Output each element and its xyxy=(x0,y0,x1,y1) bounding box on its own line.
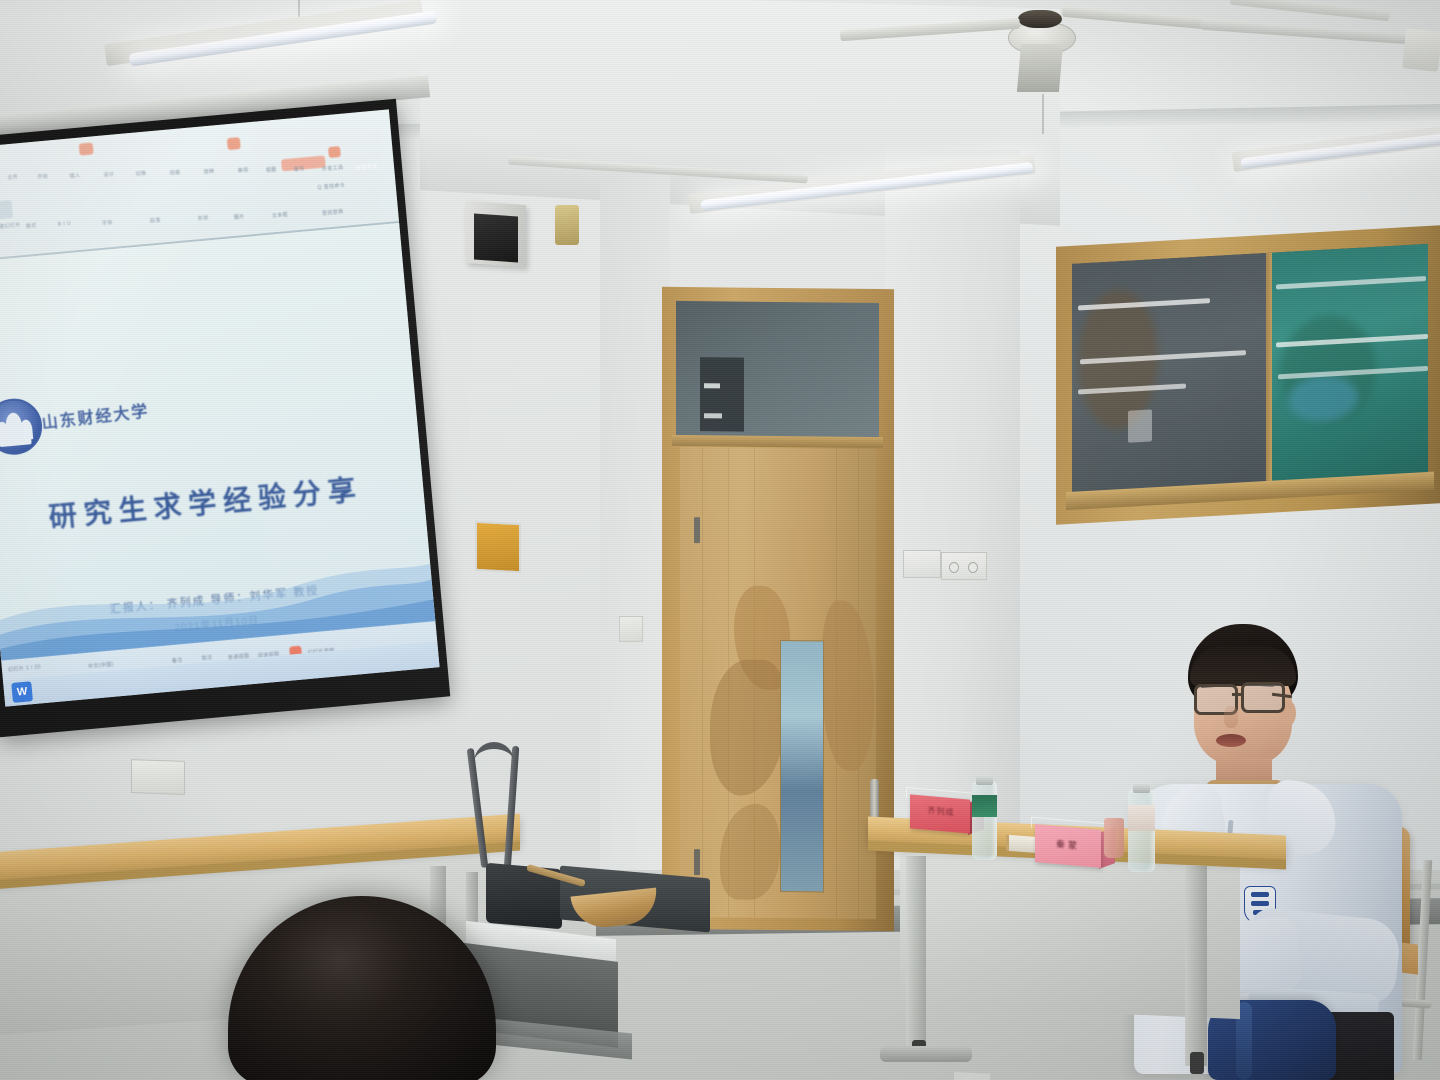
water-bottle-2 xyxy=(1128,790,1155,872)
transom-reflection-highlight-1 xyxy=(704,383,720,388)
slide-title: 研究生求学经验分享 xyxy=(0,462,425,541)
right-desk-leg-right xyxy=(1185,866,1207,1066)
status-language: 中文(中国) xyxy=(88,661,114,670)
wall-speaker xyxy=(466,201,526,267)
wall-outlet[interactable] xyxy=(619,616,643,642)
ribbon-tab-chip-3 xyxy=(328,146,341,158)
ribbon-bold-label: B I U xyxy=(58,221,72,228)
water-bottle-1-label xyxy=(972,795,997,817)
ribbon-tab-chip-2 xyxy=(227,137,241,150)
right-desk-base-foot xyxy=(880,1046,972,1062)
ribbon-tab-view: 视图 xyxy=(266,166,277,174)
ceiling-fan-cap xyxy=(1018,10,1062,28)
door-transom-glass xyxy=(676,301,879,439)
ribbon-tab-animation: 动画 xyxy=(169,169,180,177)
man-hair-fringe xyxy=(1190,646,1296,686)
door-grain-1 xyxy=(702,447,703,917)
ribbon-tab-transition: 切换 xyxy=(135,170,146,178)
speaker-grille xyxy=(474,213,518,262)
emblem-base xyxy=(0,437,32,447)
wall-junction-box xyxy=(131,759,185,795)
ribbon-newslide-label: 新建幻灯片 xyxy=(0,221,21,230)
water-bottle-2-label xyxy=(1128,805,1155,831)
transom-reflection-dark xyxy=(700,357,744,431)
right-desk-leg-left xyxy=(906,856,926,1056)
slide-canvas: 山东财经大学 研究生求学经验分享 汇报人： 齐列成 导师：刘华军 教授 2021… xyxy=(0,223,435,661)
projected-slide: WPS 文件 开始 插入 设计 切换 动画 放映 审阅 视图 章节 开发工具 会… xyxy=(0,109,440,706)
status-notes: 备注 xyxy=(172,656,183,664)
door-hinge-bottom xyxy=(694,849,700,875)
door-jamb-wall xyxy=(600,175,670,935)
man-nose xyxy=(1224,706,1238,728)
door-hinge-top xyxy=(694,517,700,543)
light-switch[interactable] xyxy=(903,550,941,578)
window-glazing xyxy=(1072,244,1428,496)
socket-hole-left xyxy=(949,562,959,573)
pane-right-streak-1 xyxy=(1276,276,1426,289)
veneer-peel-patch-2 xyxy=(710,659,786,796)
ribbon-tab-section: 章节 xyxy=(294,165,305,173)
ribbon-picture-label: 图片 xyxy=(234,213,245,221)
light-drop-rod-2 xyxy=(1042,94,1044,134)
ribbon-search-box[interactable]: Q 查找命令 xyxy=(317,182,345,191)
ribbon-tab-slideshow: 放映 xyxy=(203,168,214,176)
ribbon-paragraph-label: 段落 xyxy=(150,217,161,225)
wooden-door[interactable] xyxy=(662,287,894,931)
ribbon-textbox-label: 文本框 xyxy=(272,211,289,219)
window-pane-right xyxy=(1272,244,1428,485)
ribbon-font-label: 字体 xyxy=(102,219,113,227)
ribbon-tab-review: 审阅 xyxy=(237,166,248,174)
ribbon-tab-file: 文件 xyxy=(7,173,18,181)
water-bottle-1-cap xyxy=(976,776,993,785)
amber-panel-label xyxy=(954,1072,990,1080)
ribbon-tab-home: 开始 xyxy=(37,173,48,181)
glasses-bridge xyxy=(1232,693,1244,696)
paper-cup xyxy=(1104,818,1124,858)
water-bottle-2-cap xyxy=(1133,784,1150,793)
veneer-peel-patch-4 xyxy=(720,803,780,900)
classroom-photo: WPS 文件 开始 插入 设计 切换 动画 放映 审阅 视图 章节 开发工具 会… xyxy=(0,0,1440,1080)
wps-taskbar-icon[interactable]: W xyxy=(11,681,33,703)
power-socket[interactable] xyxy=(941,552,987,580)
amber-wall-panel xyxy=(475,521,521,573)
socket-hole-right xyxy=(968,562,978,573)
brass-wall-fixture xyxy=(555,205,579,245)
door-leaf[interactable] xyxy=(680,447,876,919)
ribbon-tab-developer: 开发工具 xyxy=(322,164,344,173)
university-name: 山东财经大学 xyxy=(40,397,150,433)
ribbon-shape-label: 形状 xyxy=(198,214,209,222)
ceiling-fan-motor xyxy=(1017,44,1063,92)
projector-screen: WPS 文件 开始 插入 设计 切换 动画 放映 审阅 视图 章节 开发工具 会… xyxy=(0,99,450,737)
ribbon-tab-member: 会员专享 xyxy=(356,163,378,172)
ribbon-tab-design: 设计 xyxy=(103,171,114,179)
ribbon-layout-label: 版式 xyxy=(26,222,37,230)
shandong-university-emblem-icon xyxy=(0,396,44,457)
status-comments: 批注 xyxy=(201,654,212,662)
window-pane-left xyxy=(1072,253,1268,496)
door-vision-panel xyxy=(780,640,824,892)
ribbon-tab-chip-1 xyxy=(79,142,94,155)
ribbon-tab-insert: 插入 xyxy=(69,172,80,180)
transom-reflection-highlight-2 xyxy=(704,413,722,418)
water-bottle-1 xyxy=(972,782,997,860)
alarm-device xyxy=(1402,28,1440,72)
crest-lion-top xyxy=(1251,892,1269,897)
ribbon-findreplace-label: 查找替换 xyxy=(322,208,344,217)
interior-window xyxy=(1056,225,1440,524)
new-slide-chip[interactable] xyxy=(0,200,13,220)
veneer-peel-patch-3 xyxy=(822,600,874,771)
man-mouth xyxy=(1216,734,1246,747)
glasses-lens-right xyxy=(1241,682,1285,713)
pane-left-streak-4 xyxy=(1128,409,1152,442)
status-slide-counter: 幻灯片 1 / 20 xyxy=(8,663,41,673)
door-transom-sill xyxy=(672,435,883,448)
crest-lion-mid xyxy=(1251,901,1269,906)
desk-foot-pad-right xyxy=(1190,1052,1204,1074)
